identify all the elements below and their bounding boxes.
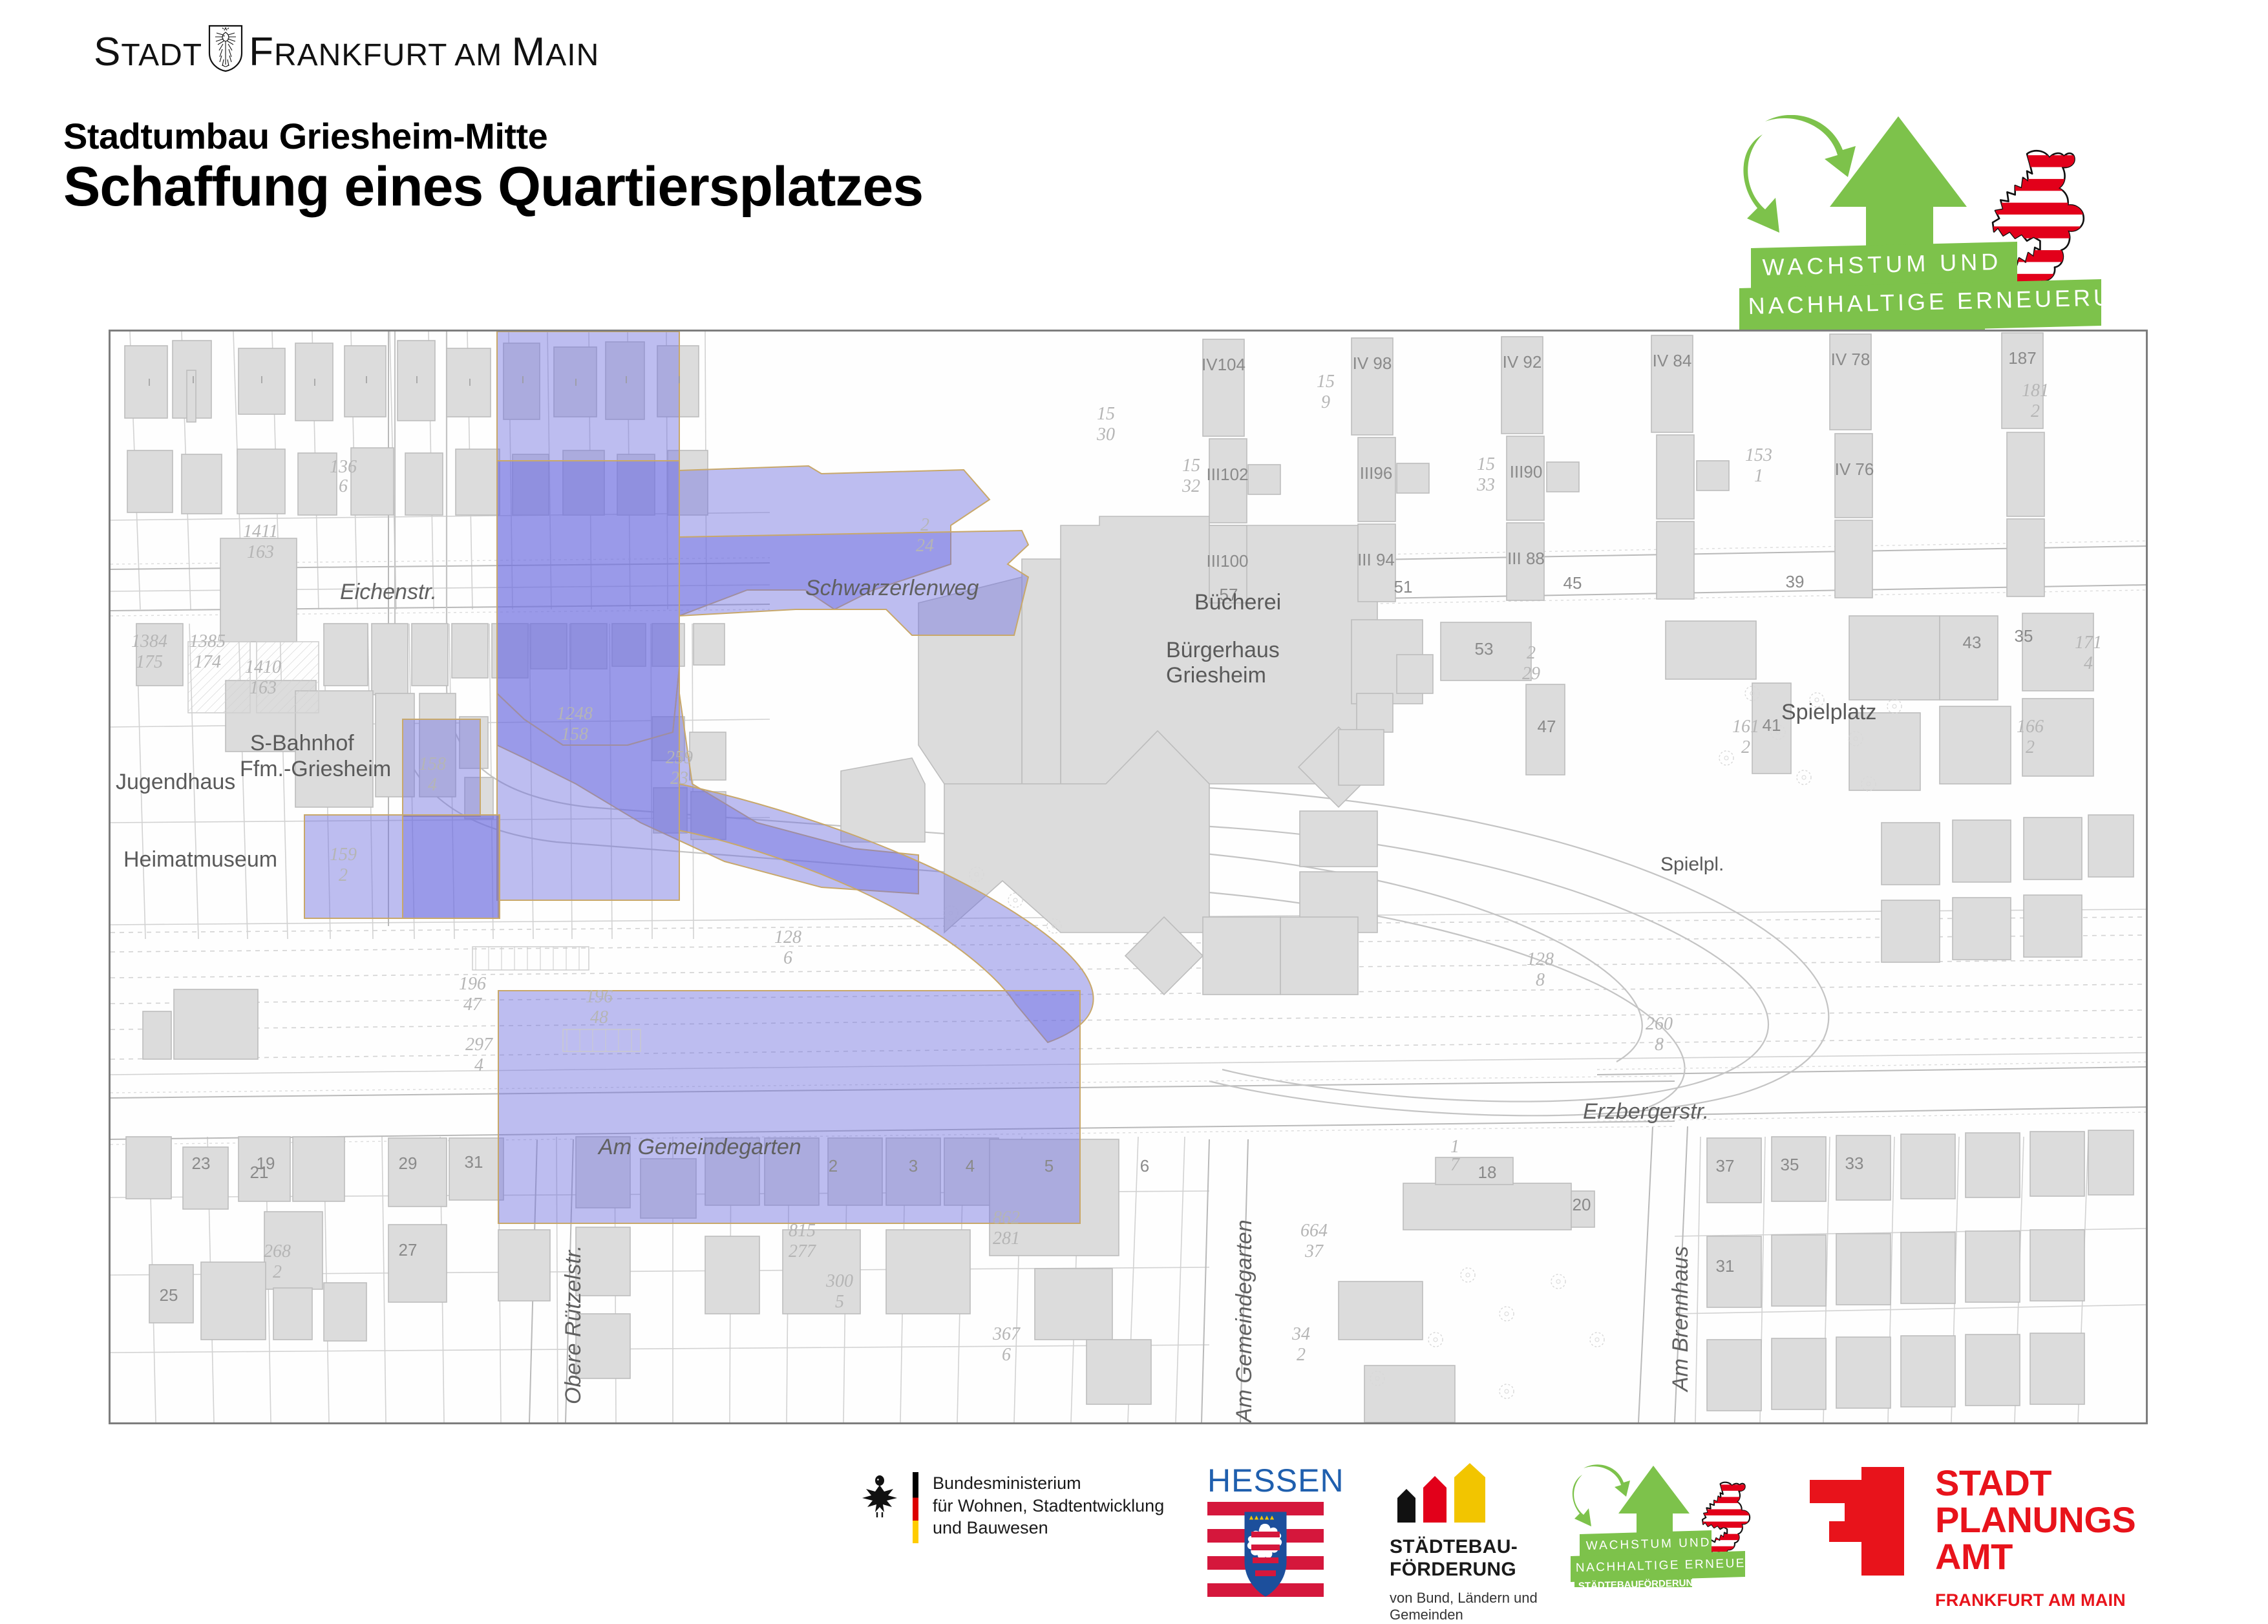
svg-text:39: 39 xyxy=(1786,572,1805,591)
svg-text:57: 57 xyxy=(1220,585,1238,604)
svg-text:7: 7 xyxy=(1450,1155,1460,1175)
svg-text:5: 5 xyxy=(1044,1156,1054,1176)
svg-text:41: 41 xyxy=(1763,715,1781,735)
svg-text:196: 196 xyxy=(586,987,613,1007)
svg-text:47: 47 xyxy=(1538,717,1556,736)
svg-text:I: I xyxy=(678,375,681,386)
svg-text:IV 78: IV 78 xyxy=(1831,350,1871,369)
svg-text:I: I xyxy=(365,375,368,386)
svg-text:300: 300 xyxy=(825,1271,853,1291)
page-subtitle: Stadtumbau Griesheim-Mitte xyxy=(63,115,547,157)
svg-text:51: 51 xyxy=(1394,577,1413,596)
spa-line2: PLANUNGS xyxy=(1935,1501,2136,1538)
svg-text:1: 1 xyxy=(1450,1137,1459,1157)
spa-line3: AMT xyxy=(1935,1538,2136,1575)
svg-text:2: 2 xyxy=(1741,737,1750,757)
logo-stadtplanungsamt: STADT PLANUNGS AMT FRANKFURT AM MAIN xyxy=(1810,1464,2136,1610)
svg-text:1248: 1248 xyxy=(556,704,593,724)
svg-text:19: 19 xyxy=(257,1154,275,1173)
svg-text:136: 136 xyxy=(330,457,357,477)
svg-text:24: 24 xyxy=(916,536,934,556)
bm-line1: Bundesministerium xyxy=(933,1472,1164,1495)
svg-text:53: 53 xyxy=(1475,639,1494,659)
svg-text:18: 18 xyxy=(1478,1163,1497,1182)
bm-line3: und Bauwesen xyxy=(933,1517,1164,1539)
svg-text:I: I xyxy=(313,377,316,388)
svg-text:15: 15 xyxy=(1097,404,1115,424)
svg-text:153: 153 xyxy=(1745,445,1772,465)
svg-text:4: 4 xyxy=(474,1055,483,1075)
svg-text:III90: III90 xyxy=(1510,462,1543,481)
svg-text:4: 4 xyxy=(966,1156,975,1176)
sbf-sub1: von Bund, Ländern und xyxy=(1390,1590,1538,1607)
svg-text:181: 181 xyxy=(2022,381,2049,401)
svg-text:196: 196 xyxy=(459,974,486,994)
svg-text:48: 48 xyxy=(590,1007,608,1028)
svg-text:IV 98: IV 98 xyxy=(1353,353,1392,373)
map-vector-layer: III III III II IV104III102III100 IV 98II… xyxy=(111,332,2146,1422)
svg-text:8: 8 xyxy=(1536,970,1545,990)
svg-text:31: 31 xyxy=(1716,1256,1735,1276)
svg-text:43: 43 xyxy=(1963,633,1982,652)
svg-text:2: 2 xyxy=(920,515,929,535)
sbf-line1: STÄDTEBAU- xyxy=(1390,1536,1538,1559)
svg-text:159: 159 xyxy=(330,845,357,865)
svg-text:IV 76: IV 76 xyxy=(1835,459,1874,479)
svg-text:47: 47 xyxy=(463,995,482,1015)
logo-wachstum-erneuerung: WACHSTUM UND NACHHALTIGE ERNEUERUNG STÄD… xyxy=(1571,1464,1784,1587)
svg-text:III102: III102 xyxy=(1206,465,1248,484)
frankfurt-eagle-crest-icon xyxy=(207,25,244,72)
svg-text:4: 4 xyxy=(2084,653,2093,673)
recycle-arrow-icon-footer xyxy=(1573,1464,1630,1526)
german-flag-bar xyxy=(913,1472,918,1543)
svg-text:277: 277 xyxy=(789,1241,816,1261)
city-logo-stadt: STADT xyxy=(94,32,202,72)
sbf-sub2: Gemeinden xyxy=(1390,1607,1538,1623)
svg-text:163: 163 xyxy=(249,678,277,698)
recycle-arrow-icon xyxy=(1743,115,1856,233)
svg-text:6: 6 xyxy=(1002,1345,1011,1365)
svg-text:175: 175 xyxy=(136,652,163,672)
logo-hessen: HESSEN xyxy=(1207,1462,1324,1602)
svg-text:IV 84: IV 84 xyxy=(1653,351,1692,370)
svg-text:268: 268 xyxy=(264,1241,291,1261)
svg-text:9: 9 xyxy=(1321,392,1330,412)
svg-text:5: 5 xyxy=(835,1292,844,1312)
svg-text:1410: 1410 xyxy=(245,657,281,677)
svg-text:161: 161 xyxy=(1732,717,1759,737)
page-header: STADT FRANKFURT AM MAIN Stadtumbau Gries… xyxy=(0,0,2268,323)
stadt-frankfurt-logo: STADT FRANKFURT AM MAIN xyxy=(94,25,599,72)
svg-text:8: 8 xyxy=(1655,1035,1664,1055)
wachstum-erneuerung-badge: WACHSTUM UND NACHHALTIGE ERNEUERUNG STÄD… xyxy=(1739,115,2211,354)
svg-text:158: 158 xyxy=(419,754,446,774)
svg-text:I: I xyxy=(522,375,524,386)
svg-text:15: 15 xyxy=(1477,454,1495,474)
svg-text:2: 2 xyxy=(2031,401,2040,421)
svg-text:23: 23 xyxy=(192,1154,211,1173)
svg-text:1384: 1384 xyxy=(131,631,167,651)
three-houses-icon xyxy=(1390,1463,1494,1523)
city-logo-frankfurt-am-main: FRANKFURT AM MAIN xyxy=(249,32,599,72)
svg-text:30: 30 xyxy=(1096,425,1115,445)
svg-text:27: 27 xyxy=(399,1240,418,1260)
svg-text:128: 128 xyxy=(1527,949,1554,969)
svg-text:128: 128 xyxy=(774,927,801,947)
bm-line2: für Wohnen, Stadtentwicklung xyxy=(933,1495,1164,1517)
svg-text:I: I xyxy=(192,375,195,386)
svg-text:I: I xyxy=(260,375,263,386)
hessen-flag-icon xyxy=(1207,1502,1324,1599)
svg-text:IV104: IV104 xyxy=(1202,355,1245,374)
svg-text:37: 37 xyxy=(1304,1241,1324,1261)
svg-text:III100: III100 xyxy=(1206,551,1248,571)
page-title: Schaffung eines Quartiersplatzes xyxy=(63,155,923,219)
svg-text:2: 2 xyxy=(339,865,348,885)
svg-text:20: 20 xyxy=(1573,1195,1591,1214)
svg-text:34: 34 xyxy=(1291,1324,1310,1344)
svg-text:367: 367 xyxy=(992,1324,1021,1344)
svg-text:IV 92: IV 92 xyxy=(1503,352,1542,372)
svg-text:32: 32 xyxy=(1182,476,1200,496)
svg-text:25: 25 xyxy=(160,1285,178,1305)
svg-text:15: 15 xyxy=(1182,456,1200,476)
svg-text:31: 31 xyxy=(465,1152,483,1172)
svg-text:187: 187 xyxy=(2008,348,2036,368)
svg-text:33: 33 xyxy=(1845,1154,1864,1173)
svg-text:I: I xyxy=(575,377,577,388)
bundesadler-icon xyxy=(860,1472,900,1520)
svg-text:2: 2 xyxy=(1527,643,1536,663)
stadtplanungsamt-mark-icon xyxy=(1810,1464,1908,1576)
page-footer: Bundesministerium für Wohnen, Stadtentwi… xyxy=(0,1448,2268,1603)
cadastral-map[interactable]: III III III II IV104III102III100 IV 98II… xyxy=(109,330,2148,1424)
svg-text:281: 281 xyxy=(993,1229,1020,1249)
svg-text:166: 166 xyxy=(2017,717,2044,737)
svg-text:37: 37 xyxy=(1716,1156,1735,1176)
svg-text:III96: III96 xyxy=(1360,463,1393,483)
svg-text:1411: 1411 xyxy=(243,522,278,542)
svg-text:260: 260 xyxy=(1646,1014,1673,1034)
svg-text:297: 297 xyxy=(465,1035,493,1055)
svg-text:862: 862 xyxy=(993,1208,1020,1228)
svg-text:815: 815 xyxy=(789,1221,816,1241)
svg-text:29: 29 xyxy=(399,1154,418,1173)
svg-text:23: 23 xyxy=(670,768,688,788)
svg-text:171: 171 xyxy=(2075,633,2102,653)
svg-text:259: 259 xyxy=(666,748,693,768)
svg-text:33: 33 xyxy=(1476,475,1495,495)
svg-text:2: 2 xyxy=(2026,737,2035,757)
svg-text:2: 2 xyxy=(1297,1345,1306,1365)
svg-text:35: 35 xyxy=(2015,626,2033,646)
svg-text:I: I xyxy=(625,375,628,386)
logo-bundesministerium: Bundesministerium für Wohnen, Stadtentwi… xyxy=(860,1472,1164,1543)
svg-text:III 88: III 88 xyxy=(1507,549,1545,568)
svg-text:4: 4 xyxy=(428,775,437,795)
svg-text:15: 15 xyxy=(1317,372,1335,392)
svg-text:III 94: III 94 xyxy=(1357,550,1395,569)
svg-text:I: I xyxy=(469,377,471,388)
svg-text:I: I xyxy=(148,377,151,388)
svg-text:6: 6 xyxy=(1140,1156,1149,1176)
svg-text:I: I xyxy=(416,375,418,386)
svg-text:2: 2 xyxy=(273,1262,282,1282)
hessen-wordmark: HESSEN xyxy=(1207,1462,1324,1499)
svg-text:1385: 1385 xyxy=(189,631,226,651)
svg-text:2: 2 xyxy=(829,1156,838,1176)
green-arrow-house-icon xyxy=(1830,116,1967,264)
spa-line1: STADT xyxy=(1935,1464,2136,1501)
svg-text:35: 35 xyxy=(1781,1155,1799,1174)
svg-text:1: 1 xyxy=(1754,466,1763,486)
svg-text:6: 6 xyxy=(339,476,348,496)
svg-text:664: 664 xyxy=(1300,1221,1328,1241)
logo-staedtebaufoerderung: STÄDTEBAU- FÖRDERUNG von Bund, Ländern u… xyxy=(1390,1463,1538,1624)
svg-text:163: 163 xyxy=(247,542,274,562)
svg-text:45: 45 xyxy=(1563,573,1582,593)
svg-text:3: 3 xyxy=(909,1156,918,1176)
svg-text:158: 158 xyxy=(561,724,588,744)
sbf-line2: FÖRDERUNG xyxy=(1390,1559,1538,1581)
spa-sub: FRANKFURT AM MAIN xyxy=(1935,1590,2136,1610)
svg-text:6: 6 xyxy=(783,948,792,968)
svg-text:29: 29 xyxy=(1522,664,1540,684)
svg-text:174: 174 xyxy=(194,652,221,672)
